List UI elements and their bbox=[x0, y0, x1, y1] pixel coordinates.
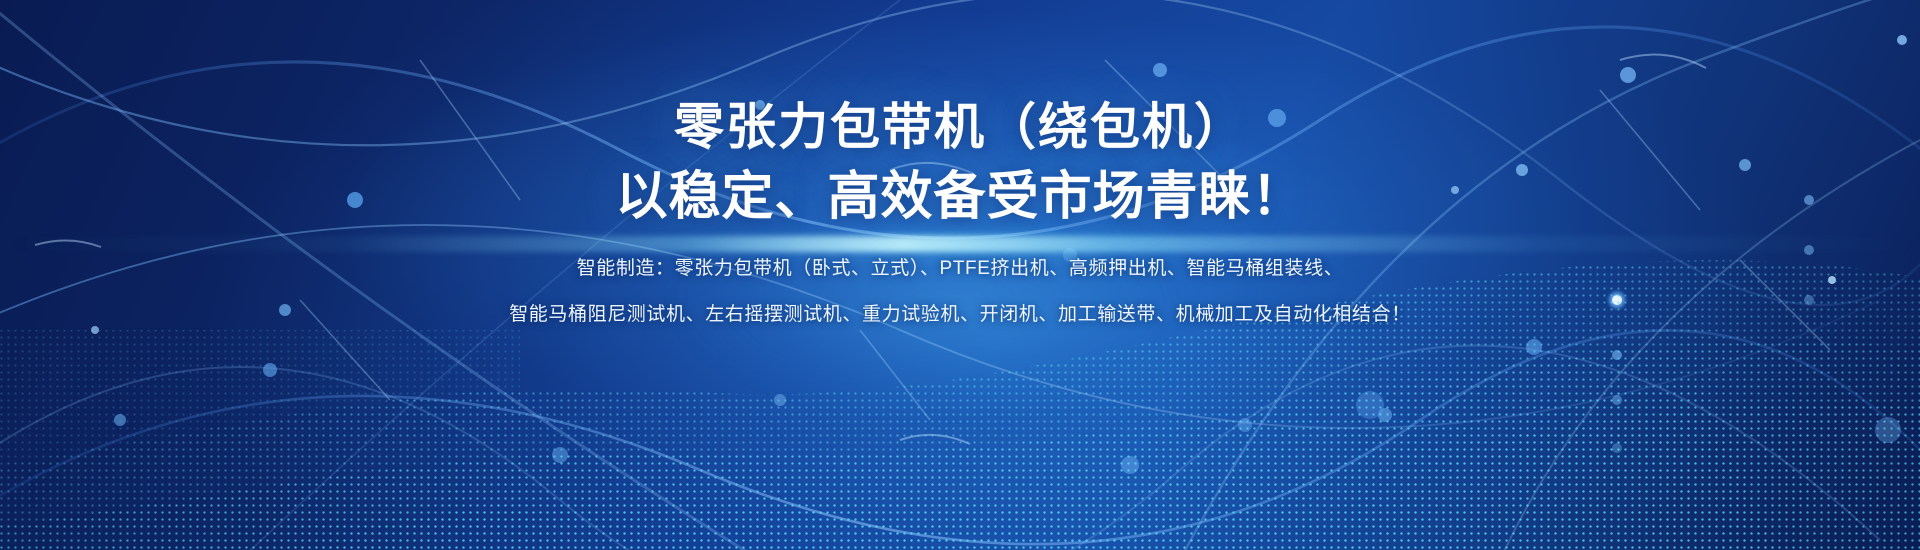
banner-content: 零张力包带机（绕包机） 以稳定、高效备受市场青睐！ 智能制造：零张力包带机（卧式… bbox=[0, 0, 1920, 550]
promo-banner: 零张力包带机（绕包机） 以稳定、高效备受市场青睐！ 智能制造：零张力包带机（卧式… bbox=[0, 0, 1920, 550]
subtitle-line-1: 智能制造：零张力包带机（卧式、立式）、PTFE挤出机、高频押出机、智能马桶组装线… bbox=[577, 254, 1344, 284]
subtitle-line-2: 智能马桶阻尼测试机、左右摇摆测试机、重力试验机、开闭机、加工输送带、机械加工及自… bbox=[509, 300, 1411, 330]
headline-line-1: 零张力包带机（绕包机） bbox=[674, 96, 1246, 158]
headline-line-2: 以稳定、高效备受市场青睐！ bbox=[615, 164, 1304, 230]
